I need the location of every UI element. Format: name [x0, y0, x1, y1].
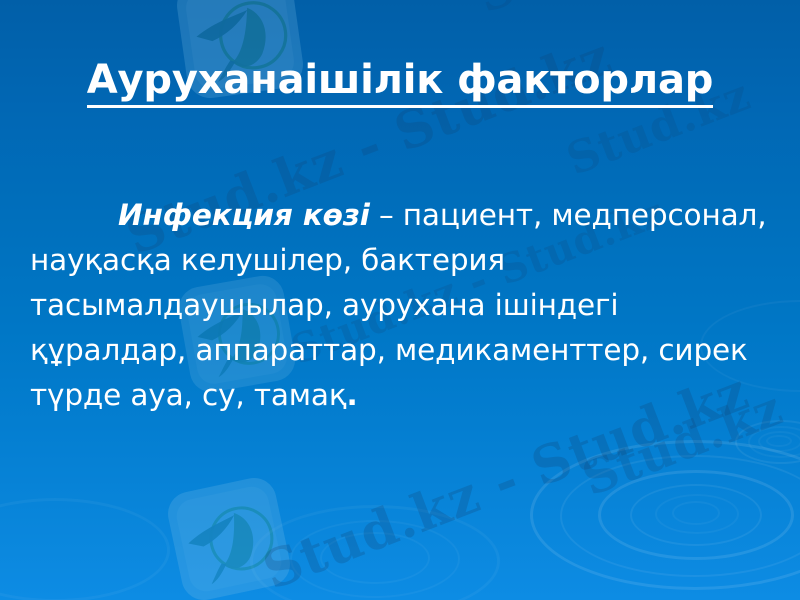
body-endmark: . — [347, 378, 358, 412]
body-lead-term: Инфекция көзі — [118, 198, 370, 232]
body-dash: – — [370, 198, 403, 232]
slide-canvas: Stud.kz - Stud.kz Stud.kz - Stud.kz Stud… — [0, 0, 800, 600]
page-title-text: Ауруханаішілік факторлар — [87, 57, 713, 108]
slide-content: Ауруханаішілік факторлар Инфекция көзі –… — [0, 0, 800, 600]
page-title: Ауруханаішілік факторлар — [0, 57, 800, 104]
body-paragraph: Инфекция көзі – пациент, медперсонал, на… — [30, 193, 772, 418]
